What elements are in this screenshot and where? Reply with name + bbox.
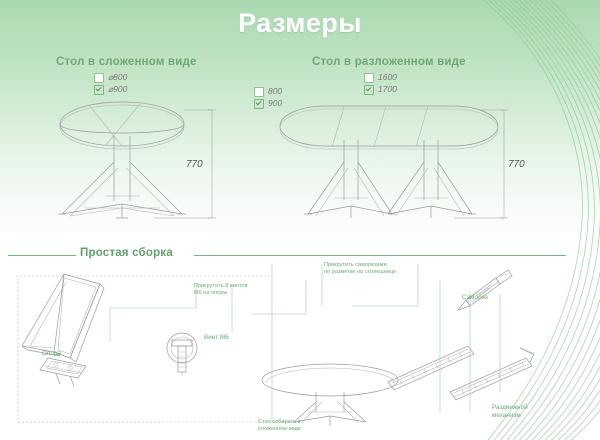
- option-label: 1600: [378, 72, 397, 83]
- support-legs-illustration: [22, 274, 104, 386]
- option-label: ⌀800: [108, 72, 127, 83]
- page-title: Размеры: [0, 8, 600, 39]
- unfolded-length-options: 1600 1700: [364, 72, 397, 96]
- slide-mechanism-illustration: [388, 346, 534, 400]
- panel-folded-title: Стол в сложенном виде: [56, 56, 296, 68]
- part-label-support: Опора: [42, 350, 61, 357]
- checkbox-unchecked-icon[interactable]: [94, 73, 104, 83]
- note-screw-legs: Прикрутить 8 винтов М6 на опоры: [194, 283, 248, 297]
- part-label-slide-mechanism: Раздвижной механизм: [492, 404, 528, 420]
- checkbox-checked-icon[interactable]: [254, 99, 264, 109]
- part-label-bolt: Винт М6: [204, 334, 229, 341]
- unfolded-table-drawing: [274, 96, 524, 231]
- folded-table-drawing: [44, 96, 244, 226]
- panel-unfolded: Стол в разложенном виде 1600 1700 800 90…: [312, 56, 582, 68]
- folded-diameter-options: ⌀800 ⌀900: [94, 72, 127, 96]
- checkbox-unchecked-icon[interactable]: [364, 73, 374, 83]
- checkbox-unchecked-icon[interactable]: [254, 87, 264, 97]
- checkbox-checked-icon[interactable]: [94, 85, 104, 95]
- bolt-illustration: [167, 333, 197, 376]
- checkbox-checked-icon[interactable]: [364, 85, 374, 95]
- divider-right: [194, 255, 566, 256]
- unfolded-height-label: 770: [508, 159, 525, 170]
- divider-left: [8, 255, 76, 256]
- option-diameter-800[interactable]: ⌀800: [94, 72, 127, 83]
- callout-leader-lines: [16, 264, 500, 422]
- option-length-1700[interactable]: 1700: [364, 84, 397, 95]
- screw-illustration: [458, 270, 512, 310]
- panel-unfolded-title: Стол в разложенном виде: [312, 56, 582, 68]
- part-label-screw: Саморез: [462, 294, 488, 301]
- note-screw-top: Прикрутить саморезами по разметке на сто…: [324, 262, 396, 276]
- infographic-page: Размеры Стол в сложенном виде ⌀800 ⌀900: [0, 0, 600, 440]
- panel-folded: Стол в сложенном виде ⌀800 ⌀900: [56, 56, 296, 68]
- option-label: 1700: [378, 84, 397, 95]
- assembly-title: Простая сборка: [80, 247, 173, 259]
- note-assemble-folded: Стол собирать в сложенном виде: [258, 419, 301, 433]
- option-diameter-900[interactable]: ⌀900: [94, 84, 127, 95]
- option-length-1600[interactable]: 1600: [364, 72, 397, 83]
- folded-height-label: 770: [186, 159, 203, 170]
- assembled-table-illustration: [262, 364, 398, 426]
- option-label: ⌀900: [108, 84, 127, 95]
